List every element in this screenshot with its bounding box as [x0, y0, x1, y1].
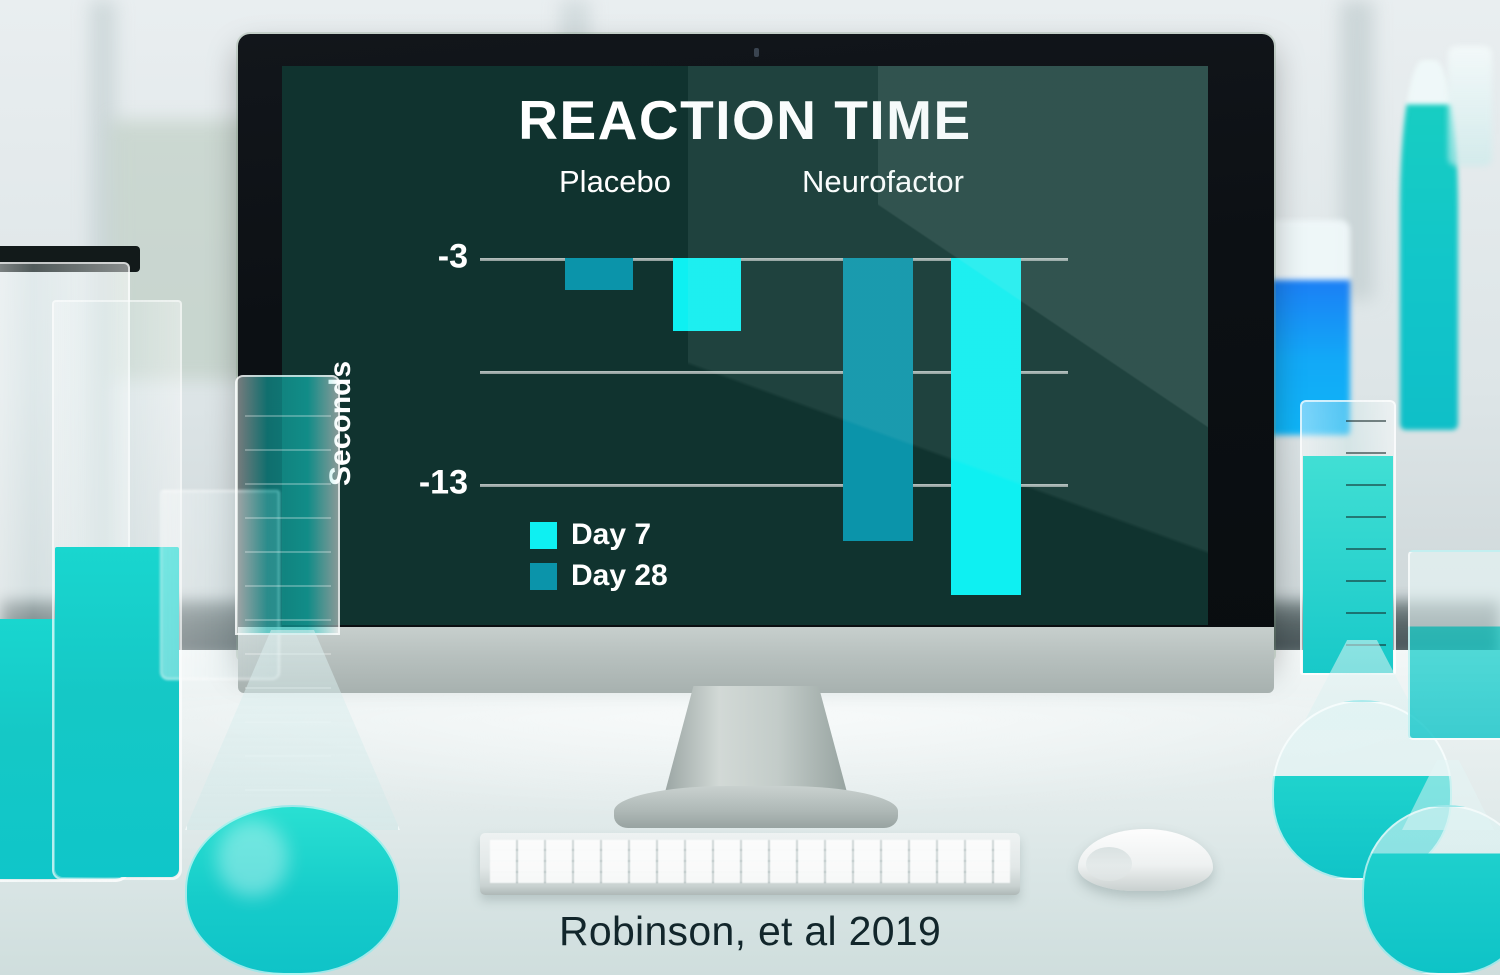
legend-swatch-day28: [530, 563, 557, 590]
chart-legend: Day 7 Day 28: [530, 518, 668, 600]
y-tick-label-bottom: -13: [419, 464, 468, 503]
bar-placebo-day28[interactable]: [565, 258, 633, 290]
y-tick-label-top: -3: [438, 238, 468, 277]
screen-glare-secondary: [878, 66, 1208, 536]
legend-item-day7[interactable]: Day 7: [530, 518, 668, 552]
right-cylinder-graduations: [1346, 420, 1386, 650]
screenshot-scene: REACTION TIME Placebo Neurofactor Second…: [0, 0, 1500, 975]
volumetric-flask-right: [1408, 550, 1500, 740]
legend-item-day28[interactable]: Day 28: [530, 559, 668, 593]
graduated-cylinder-right: [1300, 400, 1396, 675]
volumetric-flask-body: [1408, 550, 1500, 740]
legend-label-day28: Day 28: [571, 559, 668, 593]
monitor-screen: REACTION TIME Placebo Neurofactor Second…: [282, 66, 1208, 625]
keyboard-keys[interactable]: [490, 840, 1010, 883]
legend-swatch-day7: [530, 522, 557, 549]
erlenmeyer-flask-left: [185, 375, 400, 885]
citation-caption: Robinson, et al 2019: [0, 908, 1500, 955]
webcam-icon: [754, 48, 759, 57]
monitor-stand-foot: [614, 786, 898, 828]
monitor-stand-neck: [664, 686, 848, 796]
legend-label-day7: Day 7: [571, 518, 651, 552]
keyboard[interactable]: [480, 833, 1020, 895]
bar-placebo-day7[interactable]: [673, 258, 741, 331]
flask-cone: [185, 630, 400, 830]
reagent-bottle-small: [1448, 46, 1492, 166]
